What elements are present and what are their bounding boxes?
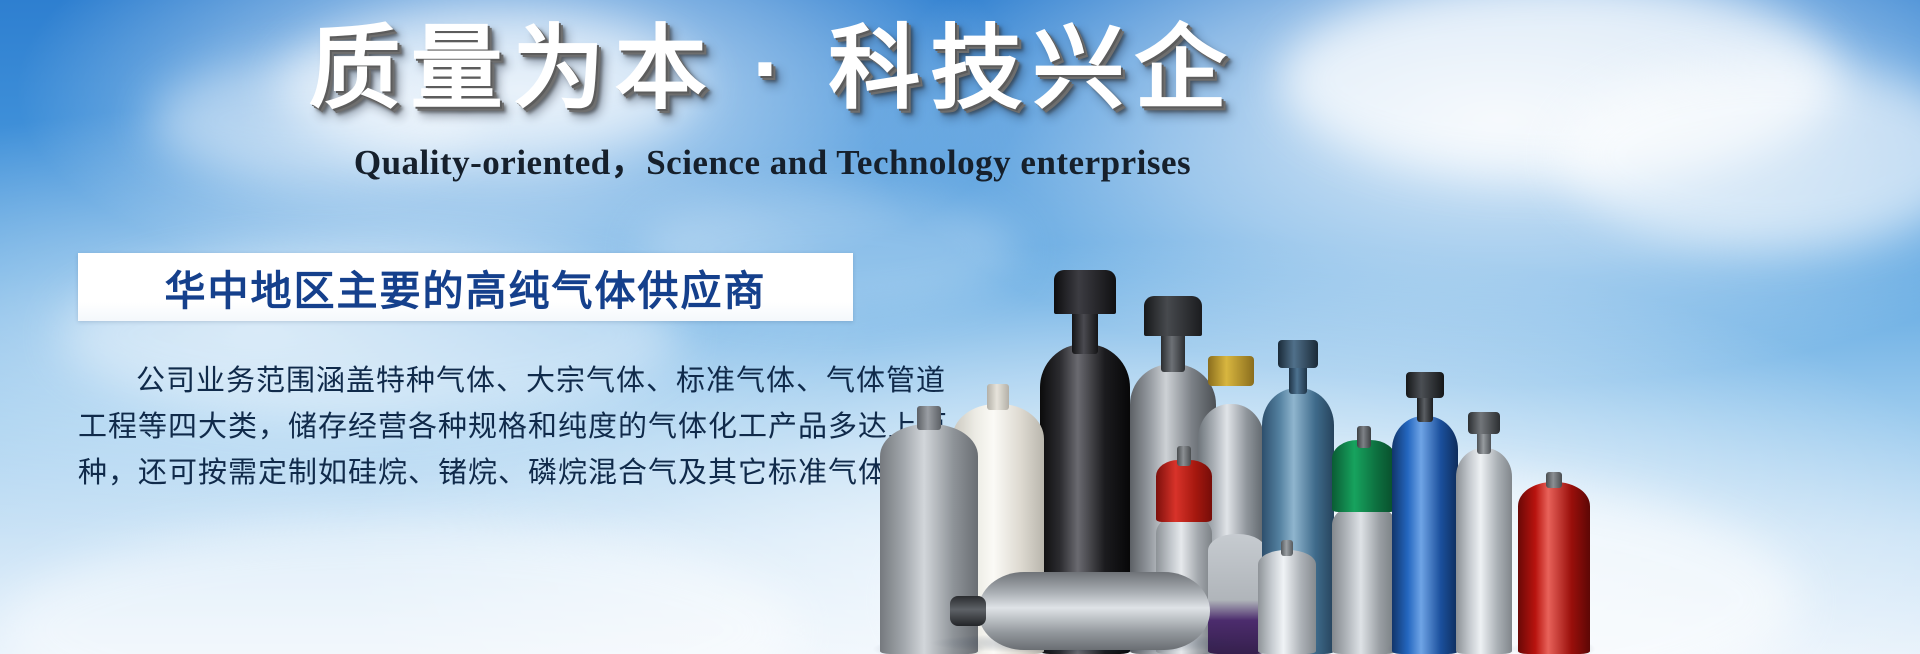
horizontal-grey-cylinder — [950, 572, 1220, 650]
cylinder-body — [1456, 448, 1512, 654]
cylinder-neck — [987, 384, 1009, 410]
cylinder-body — [1518, 482, 1590, 654]
cylinder-valve — [950, 596, 986, 626]
cylinder-neck — [1281, 540, 1293, 556]
page-title: 质量为本 · 科技兴企 — [309, 18, 1237, 121]
gas-cylinder-group-image — [940, 130, 1920, 654]
headline-container: 质量为本 · 科技兴企 — [0, 18, 1545, 121]
cylinder-neck — [917, 406, 941, 430]
cylinder-valve — [1278, 340, 1318, 368]
cylinder-valve — [1468, 412, 1500, 434]
brass-valve — [1208, 356, 1254, 386]
cylinder-neck — [1161, 330, 1185, 372]
blue-gloss-cylinder — [1392, 354, 1458, 654]
red-cylinder-shoulder — [1156, 460, 1212, 522]
promotional-banner: 质量为本 · 科技兴企 Quality-oriented，Science and… — [0, 0, 1920, 654]
cylinder-body — [1258, 550, 1316, 654]
aluminium-cylinder — [1456, 400, 1512, 654]
green-neck-cylinder — [1332, 422, 1396, 654]
cylinder-neck — [1177, 446, 1191, 466]
cylinder-neck — [1546, 472, 1562, 488]
cylinder-body — [1332, 504, 1396, 654]
tagline-text: 华中地区主要的高纯气体供应商 — [165, 257, 767, 317]
green-cylinder-shoulder — [1332, 440, 1396, 512]
cylinder-valve-cap — [1054, 270, 1116, 314]
cloud-decoration — [0, 520, 800, 654]
cylinder-neck — [1417, 394, 1433, 422]
small-aluminium-cylinder — [1258, 528, 1316, 654]
description-paragraph: 公司业务范围涵盖特种气体、大宗气体、标准气体、气体管道 工程等四大类，储存经营各… — [78, 358, 868, 496]
paragraph-line: 种，还可按需定制如硅烷、锗烷、磷烷混合气及其它标准气体。 — [78, 450, 868, 496]
cylinder-body — [1392, 416, 1458, 654]
paragraph-line: 公司业务范围涵盖特种气体、大宗气体、标准气体、气体管道 — [78, 358, 868, 404]
paragraph-line: 工程等四大类，储存经营各种规格和纯度的气体化工产品多达上百 — [78, 404, 868, 450]
cylinder-valve-cap — [1144, 296, 1202, 336]
red-gloss-cylinder — [1518, 454, 1590, 654]
tagline-highlight-box: 华中地区主要的高纯气体供应商 — [78, 253, 853, 321]
cylinder-valve — [1406, 372, 1444, 398]
cylinder-neck — [1357, 426, 1371, 448]
cylinder-body — [978, 572, 1210, 650]
cylinder-neck — [1289, 364, 1307, 394]
